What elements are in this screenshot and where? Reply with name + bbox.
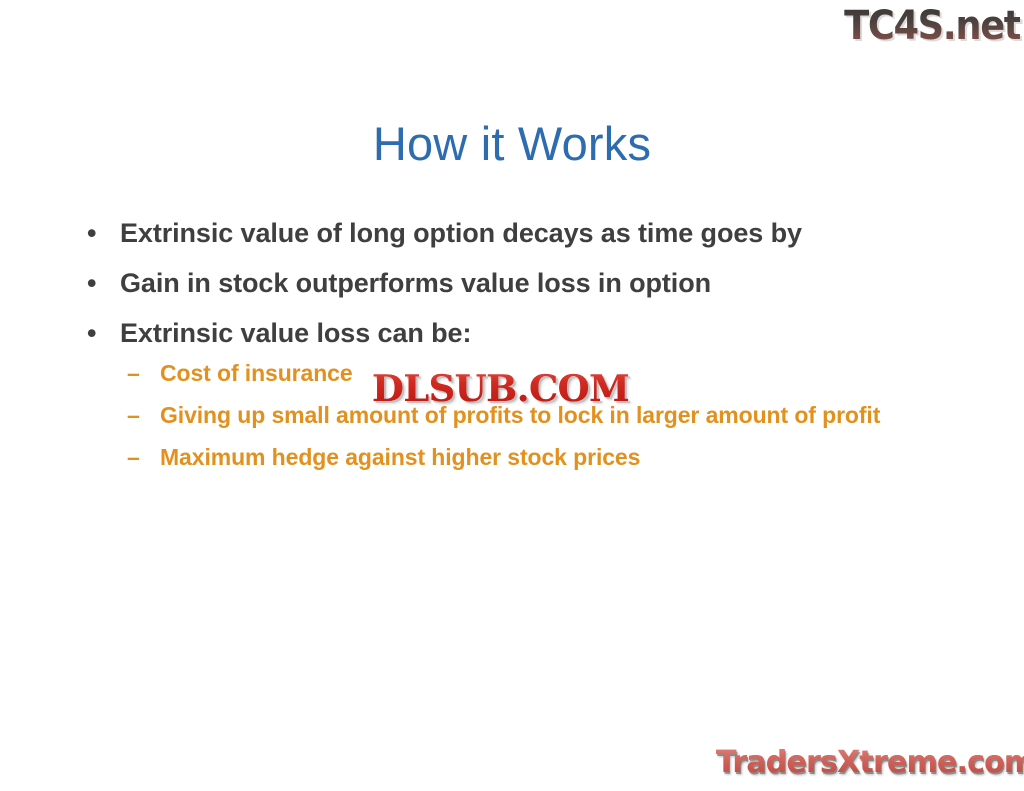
sub-bullet-text: Maximum hedge against higher stock price… <box>160 444 640 470</box>
dash-marker-icon: – <box>127 441 140 474</box>
dash-marker-icon: – <box>127 357 140 390</box>
sub-bullet-item: – Maximum hedge against higher stock pri… <box>127 441 958 474</box>
bullet-marker-icon: • <box>87 264 96 303</box>
bullet-list: • Extrinsic value of long option decays … <box>78 214 958 485</box>
dash-marker-icon: – <box>127 399 140 432</box>
sub-bullet-text: Cost of insurance <box>160 360 353 386</box>
tradersxtreme-watermark-fill: TradersXtreme.com <box>716 744 1024 782</box>
bullet-item: • Extrinsic value of long option decays … <box>78 214 958 253</box>
bullet-text: Extrinsic value of long option decays as… <box>120 218 802 248</box>
slide-title: How it Works <box>0 116 1024 172</box>
bullet-text: Extrinsic value loss can be: <box>120 318 471 348</box>
bullet-item: • Gain in stock outperforms value loss i… <box>78 264 958 303</box>
bullet-text: Gain in stock outperforms value loss in … <box>120 268 711 298</box>
bullet-marker-icon: • <box>87 214 96 253</box>
tc4s-logo-watermark: TC4S.net <box>840 2 1020 52</box>
presentation-slide: TC4S.net TC4S.net How it Works • Extrins… <box>0 0 1024 791</box>
dlsub-watermark-fill: DLSUB.COM <box>372 368 629 410</box>
bullet-marker-icon: • <box>87 314 96 353</box>
